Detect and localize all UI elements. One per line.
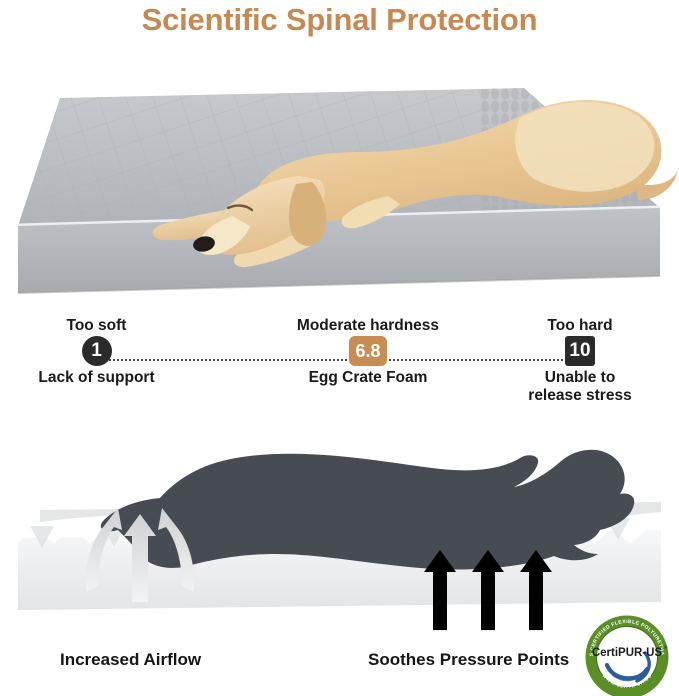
product-photo	[0, 48, 679, 303]
scale-node-too-hard: Too hard 10 Unable to release stress	[505, 318, 655, 404]
scale-node-bottom-label-line2: release stress	[505, 387, 655, 404]
page-title: Scientific Spinal Protection	[0, 2, 679, 38]
scale-node-bottom-label-line1: Unable to	[505, 369, 655, 386]
caption-soothes-pressure-points: Soothes Pressure Points	[368, 650, 569, 670]
caption-increased-airflow: Increased Airflow	[60, 650, 201, 670]
scale-node-top-label: Moderate hardness	[278, 318, 458, 334]
firmness-scale: Too soft 1 Lack of support Moderate hard…	[0, 318, 679, 418]
scale-node-too-soft: Too soft 1 Lack of support	[14, 318, 179, 387]
scale-badge-1: 1	[82, 336, 112, 366]
scale-node-bottom-label: Egg Crate Foam	[278, 369, 458, 386]
pressure-arrows-group	[424, 550, 552, 630]
scale-node-moderate: Moderate hardness 6.8 Egg Crate Foam	[278, 318, 458, 387]
certipur-us-badge: CONTAINS CERTIFIED FLEXIBLE POLYURETHANE…	[583, 613, 675, 696]
scale-node-top-label: Too soft	[14, 318, 179, 334]
scale-badge-6-8: 6.8	[349, 336, 387, 366]
scale-node-bottom-label: Lack of support	[14, 369, 179, 386]
scale-node-top-label: Too hard	[505, 318, 655, 334]
scale-badge-10: 10	[565, 336, 595, 366]
foam-cross-section-diagram	[0, 430, 679, 645]
certipur-wordmark: CertiPUR-US	[592, 647, 663, 659]
